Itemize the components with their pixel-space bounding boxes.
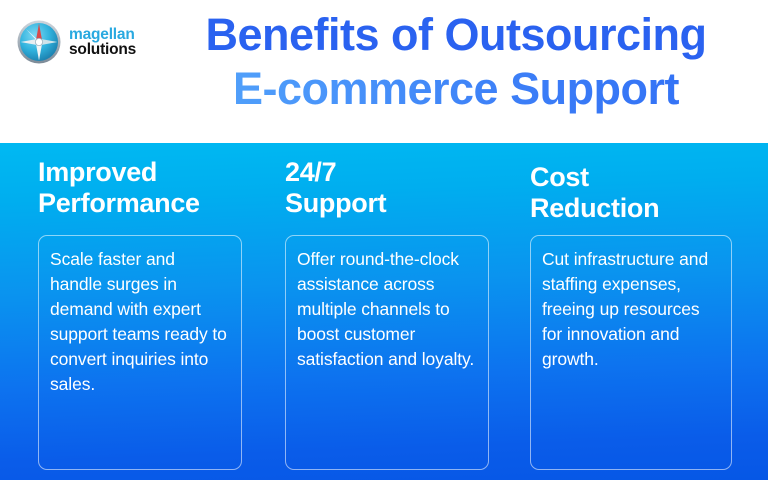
brand-logo[interactable]: magellan solutions	[16, 18, 146, 66]
benefit-card-text: Offer round-the-clock assistance across …	[286, 236, 488, 372]
compass-rose-icon	[16, 19, 62, 65]
title-line-2: E-commerce Support	[150, 62, 762, 116]
benefit-card: Cut infrastructure and staffing expenses…	[530, 235, 732, 470]
benefits-panel: Improved Performance Scale faster and ha…	[0, 143, 768, 480]
title-line-1: Benefits of Outsourcing	[150, 8, 762, 62]
brand-wordmark: magellan solutions	[69, 27, 136, 58]
benefit-card-text: Scale faster and handle surges in demand…	[39, 236, 241, 397]
benefit-column-improved-performance: Improved Performance Scale faster and ha…	[38, 143, 242, 219]
brand-name-magellan: magellan	[69, 27, 136, 43]
benefits-columns: Improved Performance Scale faster and ha…	[0, 143, 768, 480]
benefit-card: Offer round-the-clock assistance across …	[285, 235, 489, 470]
benefit-heading: Cost Reduction	[530, 143, 732, 224]
benefit-heading: Improved Performance	[38, 143, 242, 219]
header-band: magellan solutions Benefits of Outsourci…	[0, 0, 768, 143]
benefit-column-24-7-support: 24/7 Support Offer round-the-clock assis…	[285, 143, 489, 219]
brand-name-solutions: solutions	[69, 42, 136, 58]
page-title: Benefits of Outsourcing E-commerce Suppo…	[150, 8, 762, 116]
benefit-column-cost-reduction: Cost Reduction Cut infrastructure and st…	[530, 143, 732, 224]
benefit-card-text: Cut infrastructure and staffing expenses…	[531, 236, 731, 372]
infographic-canvas: magellan solutions Benefits of Outsourci…	[0, 0, 768, 502]
benefit-heading: 24/7 Support	[285, 143, 489, 219]
benefit-card: Scale faster and handle surges in demand…	[38, 235, 242, 470]
